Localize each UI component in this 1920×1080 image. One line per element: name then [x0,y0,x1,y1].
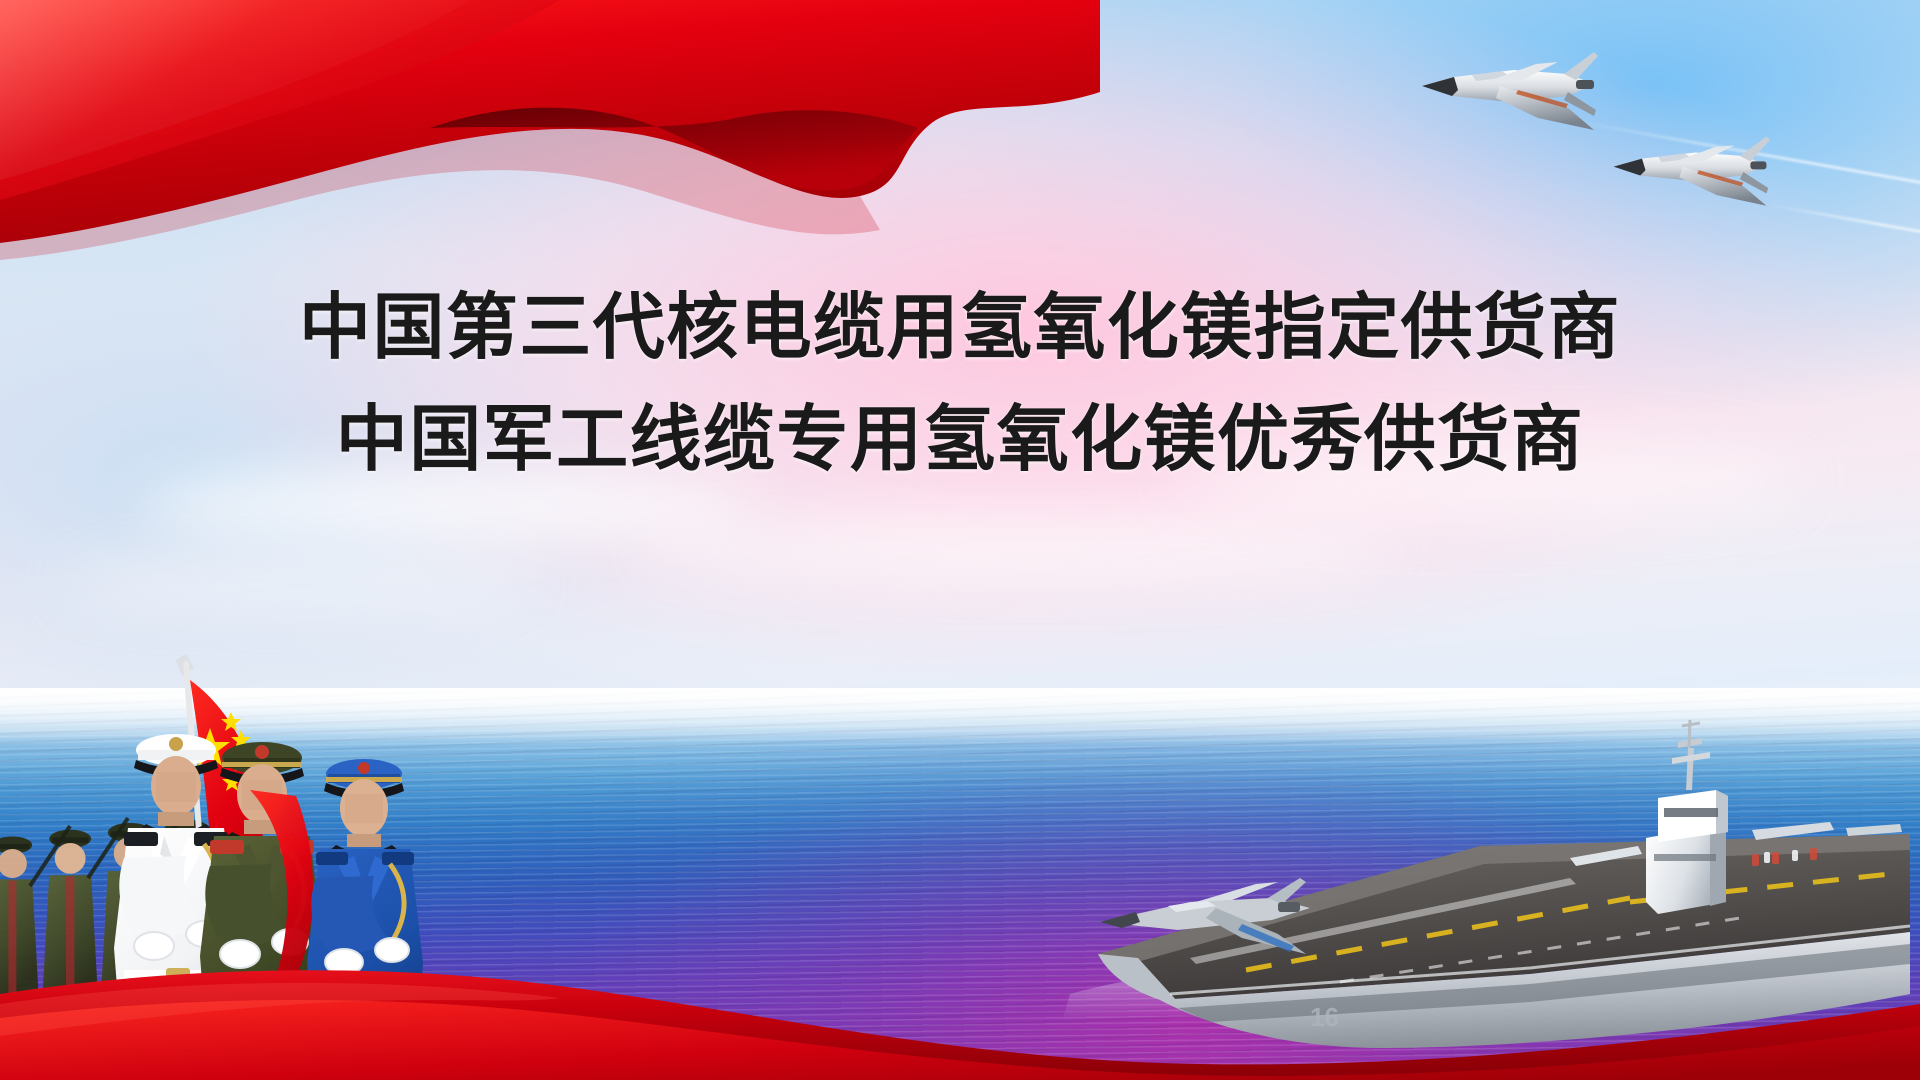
cloud-streak [60,560,540,610]
fighter-jet-icon [1610,130,1770,214]
fighter-jet-icon [1418,46,1598,138]
cloud-streak [640,520,1400,580]
title-line-2: 中国军工线缆专用氢氧化镁优秀供货商 [0,392,1920,488]
title-block: 中国第三代核电缆用氢氧化镁指定供货商 中国军工线缆专用氢氧化镁优秀供货商 [0,280,1920,489]
red-flag-wave [0,0,1100,260]
title-line-1: 中国第三代核电缆用氢氧化镁指定供货商 [0,280,1920,376]
bottom-red-ribbon [0,960,1920,1080]
promotional-banner: 16 [0,0,1920,1080]
